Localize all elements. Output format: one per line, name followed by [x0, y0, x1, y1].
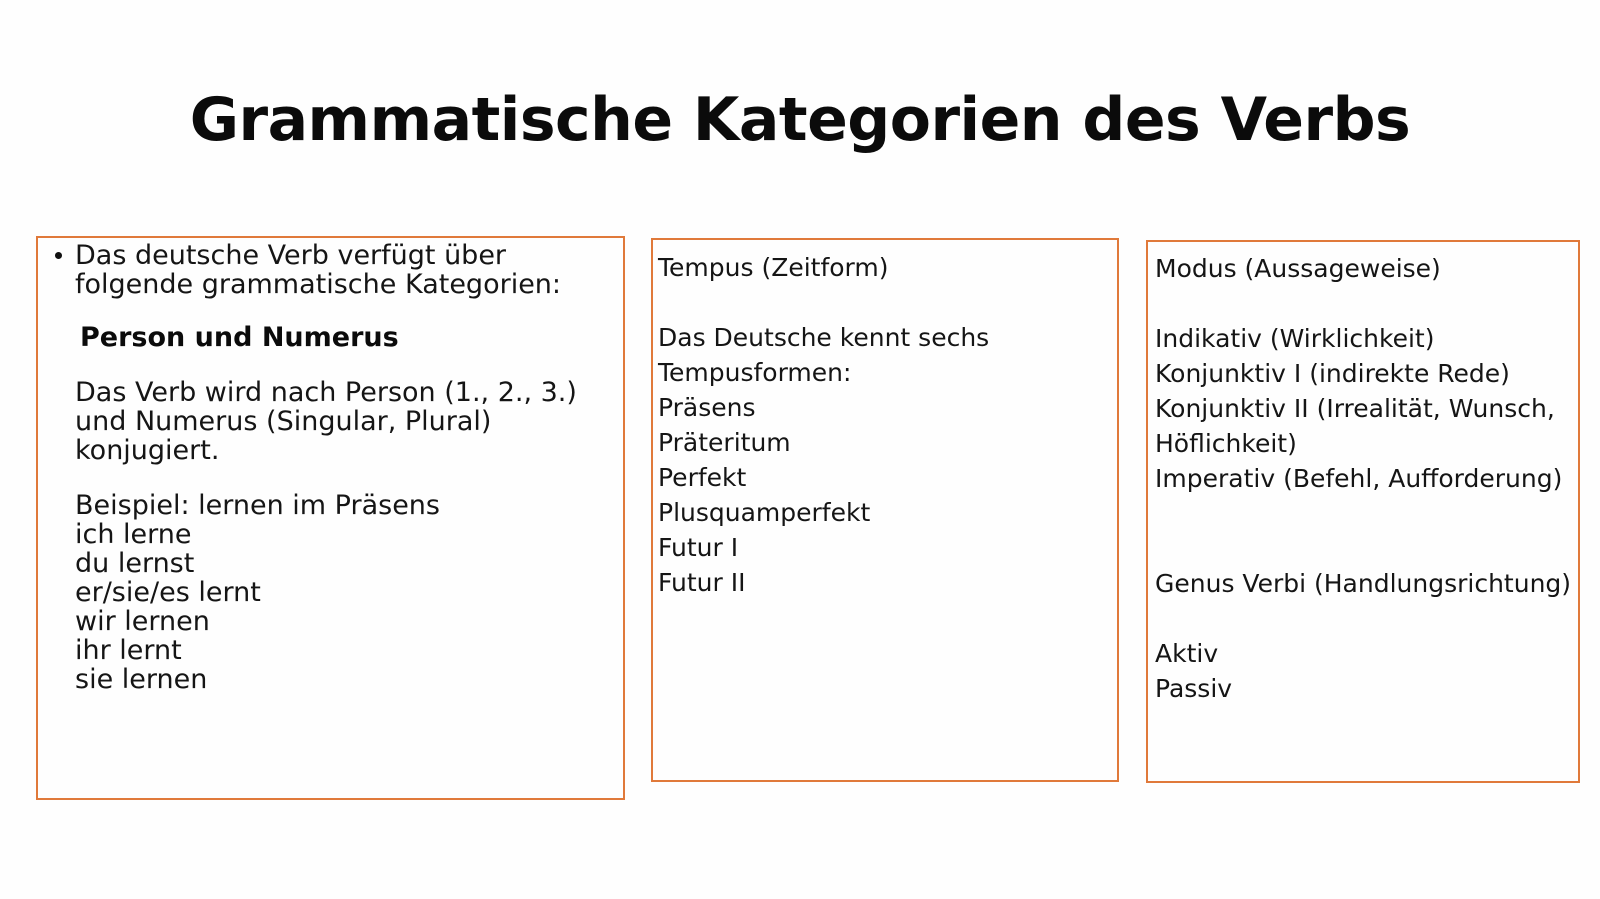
- bullet-dot-icon: [55, 252, 62, 259]
- tempus-heading: Tempus (Zeitform): [658, 250, 1113, 285]
- modus-heading: Modus (Aussageweise): [1155, 251, 1575, 286]
- modus-modes-list: Indikativ (Wirklichkeit) Konjunktiv I (i…: [1155, 321, 1575, 496]
- column-tempus: Tempus (Zeitform) Das Deutsche kennt sec…: [658, 250, 1113, 600]
- column-person-und-numerus: Das deutsche Verb verfügt über folgende …: [55, 241, 625, 694]
- genus-verbi-voices-list: Aktiv Passiv: [1155, 636, 1575, 706]
- spacer: [658, 285, 1113, 320]
- tempus-intro: Das Deutsche kennt sechs Tempusformen:: [658, 320, 1113, 390]
- spacer: [1155, 286, 1575, 321]
- genus-verbi-subheading: Genus Verbi (Handlungsrichtung): [1155, 566, 1575, 601]
- section-heading-person-numerus: Person und Numerus: [55, 323, 625, 352]
- page-title: Grammatische Kategorien des Verbs: [0, 84, 1600, 156]
- bullet-list-item: Das deutsche Verb verfügt über folgende …: [55, 241, 625, 299]
- spacer: [1155, 601, 1575, 636]
- person-numerus-description: Das Verb wird nach Person (1., 2., 3.) u…: [55, 378, 625, 465]
- spacer: [1155, 496, 1575, 566]
- tempus-forms-list: Präsens Präteritum Perfekt Plusquamperfe…: [658, 390, 1113, 600]
- conjugation-example-block: Beispiel: lernen im Präsens ich lerne du…: [55, 491, 625, 694]
- intro-paragraph: Das deutsche Verb verfügt über folgende …: [75, 241, 625, 299]
- column-modus: Modus (Aussageweise) Indikativ (Wirklich…: [1155, 251, 1575, 706]
